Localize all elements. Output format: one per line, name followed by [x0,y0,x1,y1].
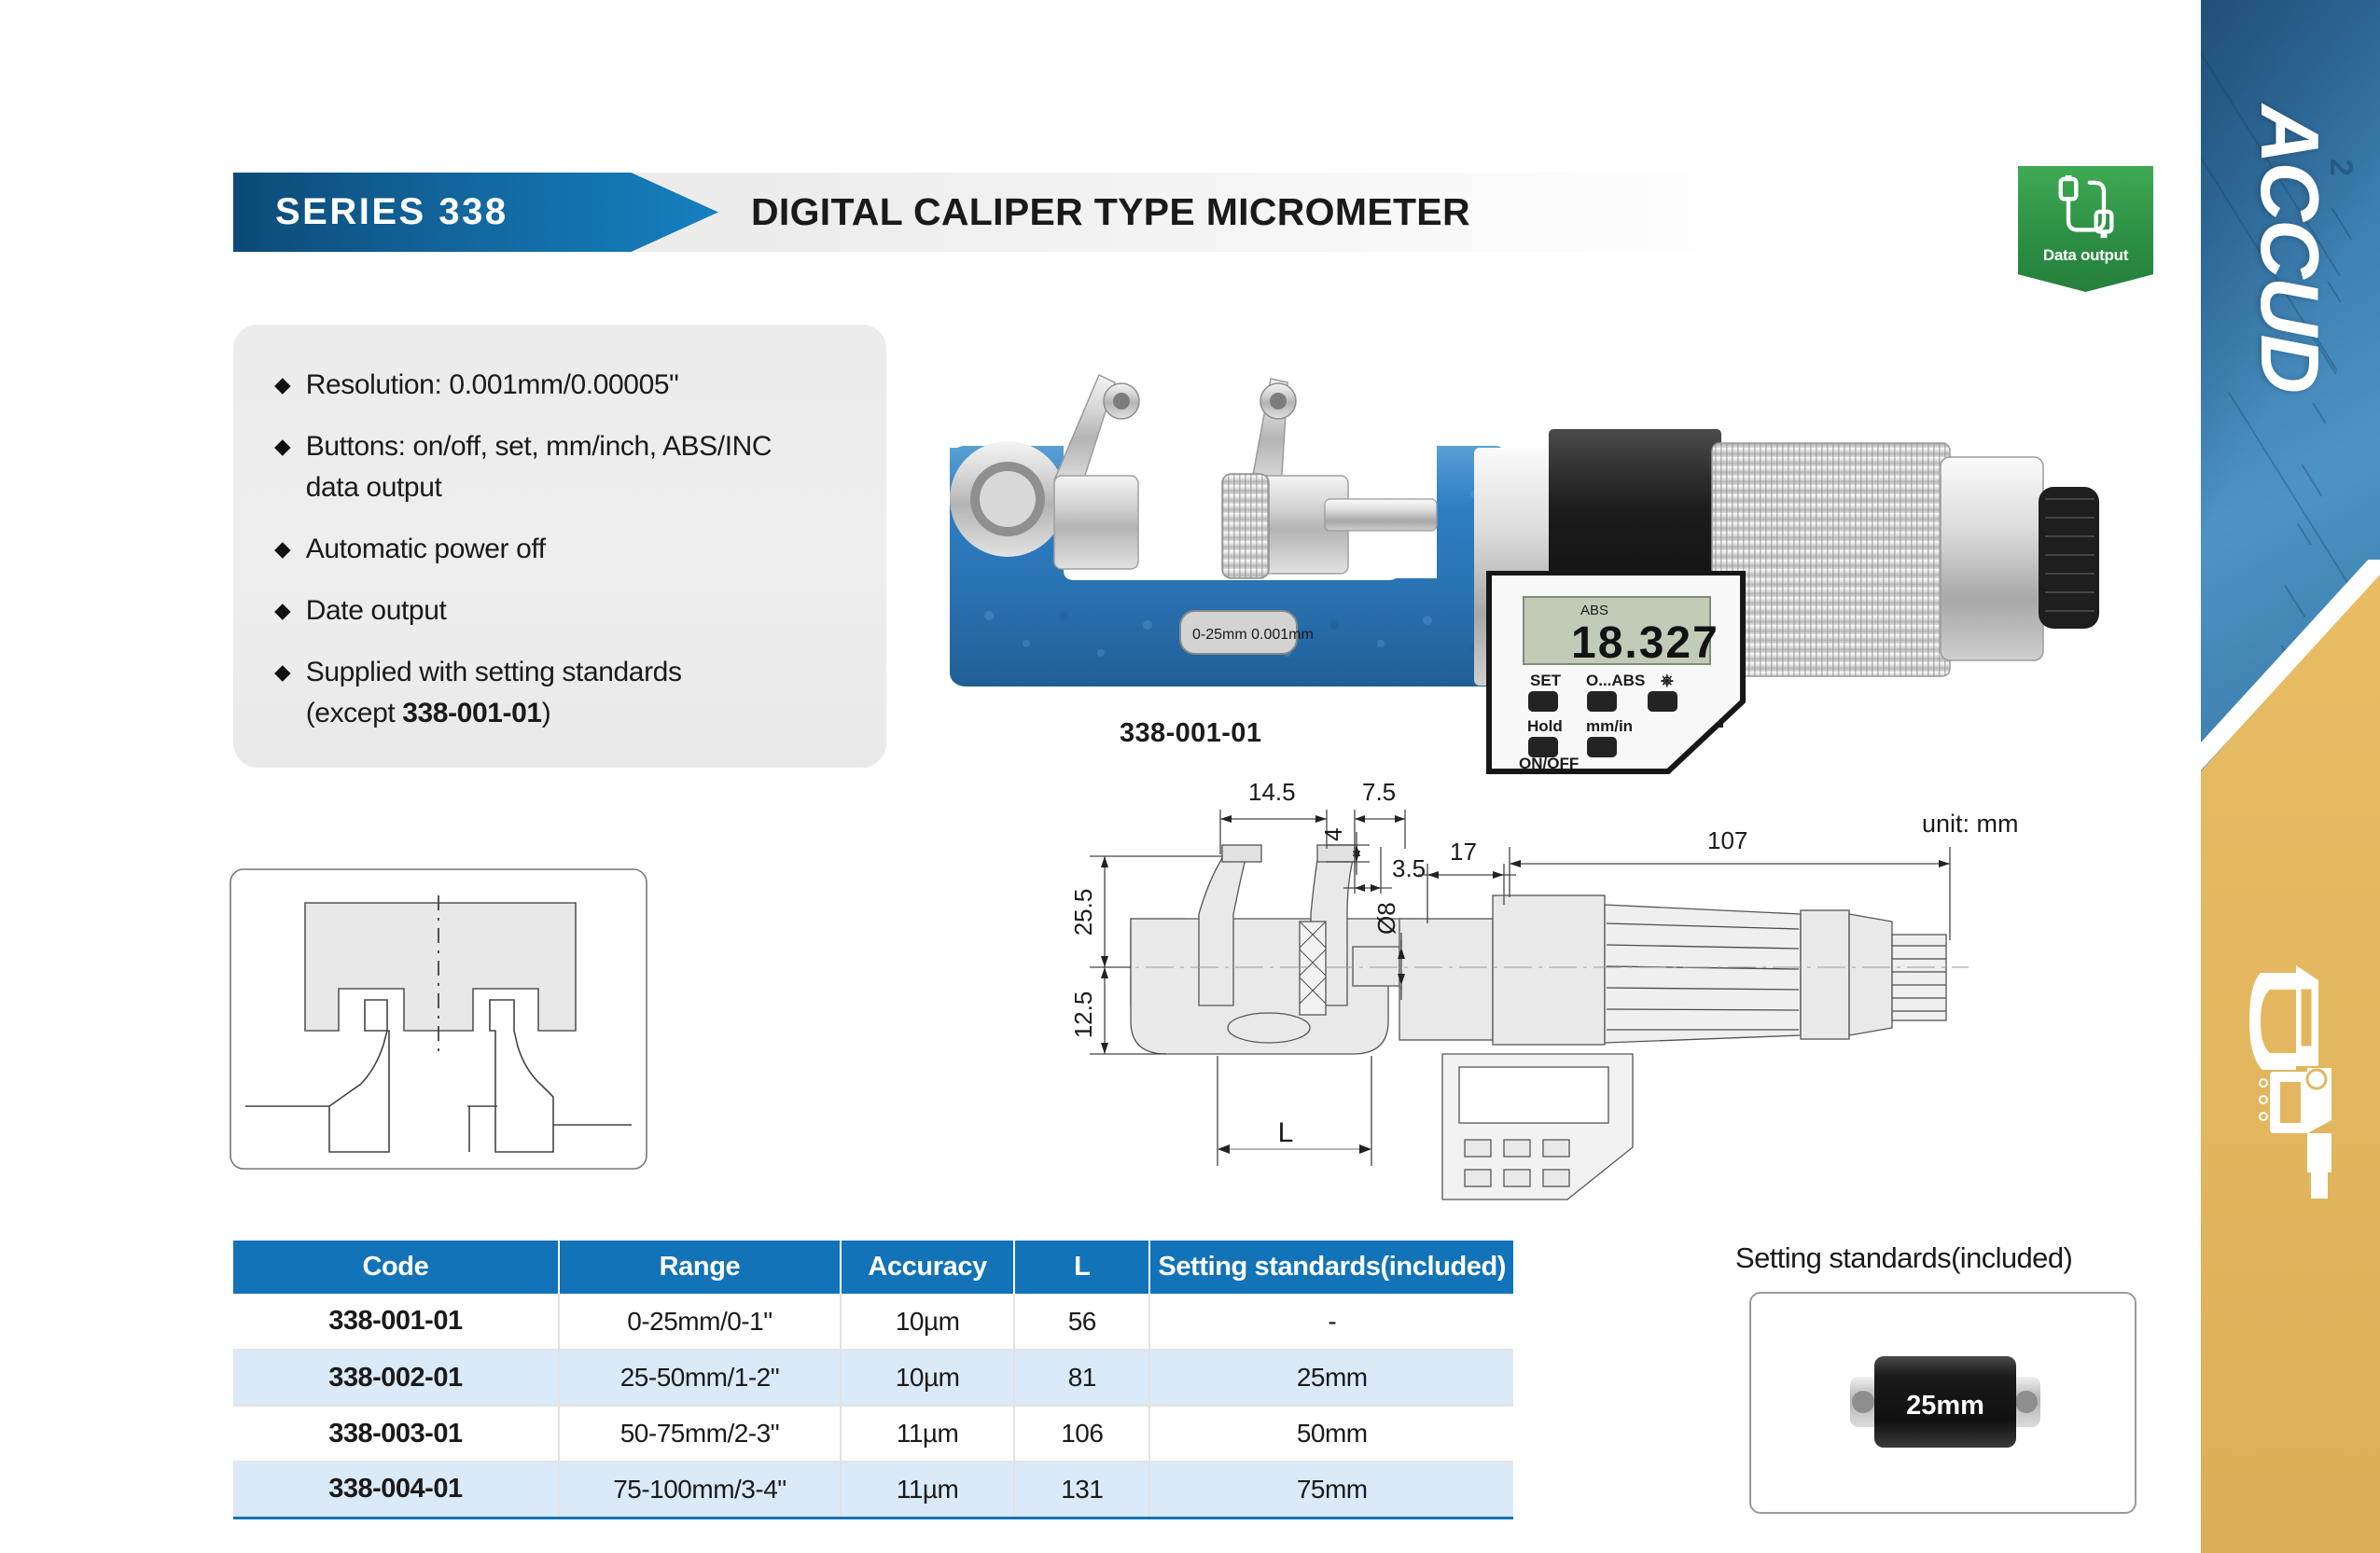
feature-item-continuation: ◆ (except 338-001-01) [274,694,858,733]
cell-l: 106 [1014,1406,1149,1462]
feature-item: ◆ Buttons: on/off, set, mm/inch, ABS/INC [274,427,858,466]
setting-standards-title: Setting standards(included) [1735,1241,2072,1275]
button-set[interactable] [1528,691,1558,712]
col-header-code: Code [233,1241,559,1294]
btn-label-zero-abs: O...ABS [1586,672,1645,689]
technical-drawing: 14.5 7.5 4 3.5 Ø8 [1073,774,2174,1213]
cell-standard: 50mm [1149,1406,1513,1462]
feature-label: Automatic power off [306,530,546,569]
page-title: DIGITAL CALIPER TYPE MICROMETER [751,173,1470,252]
feature-item: ◆ Date output [274,591,858,631]
table-row[interactable]: 338-004-01 75-100mm/3-4" 11µm 131 75mm [233,1462,1513,1518]
product-caption: 338-001-01 [1120,718,1427,749]
dim-17: 17 [1450,838,1477,866]
cell-standard: 25mm [1149,1350,1513,1406]
gauge-label: 25mm [1906,1391,1984,1421]
button-power[interactable] [1648,691,1677,712]
cell-range: 25-50mm/1-2" [559,1350,841,1406]
feature-label: Resolution: 0.001mm/0.00005" [306,366,679,405]
dim-dia-8: Ø8 [1372,902,1400,935]
table-row[interactable]: 338-001-01 0-25mm/0-1" 10µm 56 - [233,1294,1513,1350]
cell-accuracy: 11µm [841,1406,1014,1462]
col-header-range: Range [559,1241,841,1294]
table-row[interactable]: 338-003-01 50-75mm/2-3" 11µm 106 50mm [233,1406,1513,1462]
diamond-bullet-icon: ◆ [274,591,291,629]
cell-code: 338-004-01 [233,1462,559,1518]
page-header: SERIES 338 DIGITAL CALIPER TYPE MICROMET… [0,173,1791,252]
button-zero-abs[interactable] [1587,691,1617,712]
setting-standard-gauge: 25mm [1843,1343,2048,1460]
lcd-mode-abs: ABS [1580,603,1608,618]
lcd-reading: 18.327 [1571,618,1719,668]
cell-range: 0-25mm/0-1" [559,1294,841,1350]
feature-label: Date output [306,591,447,631]
dim-25-5: 25.5 [1073,889,1097,936]
diamond-bullet-icon: ◆ [274,653,291,690]
btn-label-set: SET [1530,672,1562,689]
dim-3-5: 3.5 [1392,854,1426,882]
display-button-panel: ABS 18.327 SET O...ABS ⎈ Hold mm/in ON/O… [1482,571,1761,781]
specification-table: Code Range Accuracy L Setting standards(… [233,1241,1513,1519]
diamond-bullet-icon: ◆ [274,366,291,403]
cell-standard: 75mm [1149,1462,1513,1518]
feature-item: ◆ Supplied with setting standards [274,653,858,692]
cell-code: 338-002-01 [233,1350,559,1406]
features-panel: ◆ Resolution: 0.001mm/0.00005" ◆ Buttons… [233,325,886,768]
cell-l: 131 [1014,1462,1149,1518]
cell-range: 75-100mm/3-4" [559,1462,841,1518]
col-header-accuracy: Accuracy [841,1241,1014,1294]
series-label: SERIES 338 [275,173,508,252]
feature-item: ◆ Automatic power off [274,530,858,569]
feature-label: Buttons: on/off, set, mm/inch, ABS/INC [306,427,772,466]
dim-14-5: 14.5 [1248,778,1296,806]
cell-accuracy: 10µm [841,1294,1014,1350]
badge-label: Data output [2043,246,2128,265]
micrometer-outline-icon [2242,956,2345,1208]
dim-4: 4 [1319,828,1347,841]
cell-standard: - [1149,1294,1513,1350]
cell-l: 81 [1014,1350,1149,1406]
feature-label: data output [306,468,442,507]
cross-section-drawing [229,867,648,1171]
unit-label: unit: mm [1922,810,2019,839]
usb-cable-icon [2050,175,2123,244]
data-output-badge: Data output [2018,166,2153,292]
dim-12-5: 12.5 [1073,991,1097,1039]
feature-exception-label: (except 338-001-01) [306,694,551,733]
cell-range: 50-75mm/2-3" [559,1406,841,1462]
cell-code: 338-001-01 [233,1294,559,1350]
dim-107: 107 [1707,826,1747,854]
cell-accuracy: 11µm [841,1462,1014,1518]
feature-item: ◆ Resolution: 0.001mm/0.00005" [274,366,858,405]
diamond-bullet-icon: ◆ [274,427,291,465]
button-mm-in[interactable] [1587,737,1617,757]
diamond-bullet-icon: ◆ [274,530,291,567]
btn-label-power: ⎈ [1661,672,1674,689]
dim-7-5: 7.5 [1362,778,1396,806]
cell-code: 338-003-01 [233,1406,559,1462]
btn-label-on-off: ON/OFF [1519,755,1579,772]
btn-label-hold: Hold [1527,717,1563,735]
col-header-l: L [1014,1241,1149,1294]
table-row[interactable]: 338-002-01 25-50mm/1-2" 10µm 81 25mm [233,1350,1513,1406]
cell-accuracy: 10µm [841,1350,1014,1406]
feature-label: Supplied with setting standards [306,653,682,692]
col-header-setting-standards: Setting standards(included) [1149,1241,1513,1294]
catalog-page: SERIES 338 DIGITAL CALIPER TYPE MICROMET… [0,0,2380,1553]
cell-l: 56 [1014,1294,1149,1350]
table-header-row: Code Range Accuracy L Setting standards(… [233,1241,1513,1294]
dim-L: L [1278,1117,1294,1148]
btn-label-mm-in: mm/in [1586,717,1633,735]
brand-sidebar: 2 3 ACCUD [2201,0,2380,1553]
feature-exception-code: 338-001-01 [402,698,541,728]
frame-label: 0-25mm 0.001mm [1192,627,1314,643]
brand-logo: ACCUD [2242,29,2337,467]
feature-item-continuation: ◆ data output [274,468,858,507]
